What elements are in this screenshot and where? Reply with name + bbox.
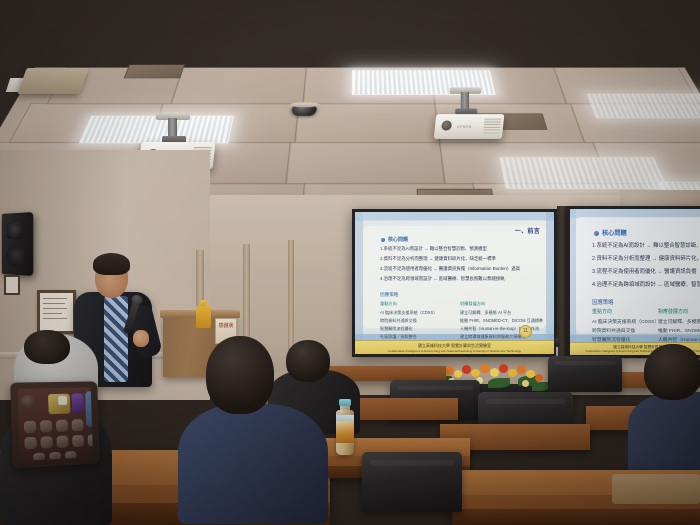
tablet-app-icon[interactable] [56,436,68,448]
slide-bullet: 1.系統不足為AI而設計 → 難以整合智慧診斷、預測模型 [592,241,700,249]
audience-head [206,336,274,414]
audience-head [286,340,330,382]
slide-left: 一、前言 核心問題 1.系統不足為AI而設計 → 難以整合智慧診斷、預測模型 2… [355,212,554,354]
tablet-app-icon[interactable] [24,421,37,434]
slide-bullet: 4.治理不足為跨領域而設計 → 區域醫療、智慧長照難以無縫接軌 [380,276,552,282]
air-vent [124,65,185,79]
left-projection-screen: 一、前言 核心問題 1.系統不足為AI而設計 → 難以整合智慧診斷、預測模型 2… [352,209,557,357]
tablet-device[interactable] [10,381,100,468]
slide-page-number: 11 [519,325,532,338]
slide-bullet: 1.系統不足為AI而設計 → 難以整合智慧診斷、預測模型 [380,246,552,252]
slide-section-heading: 核心問題 [602,228,627,237]
projector-vent [483,119,501,135]
slide-table-cell: 建立可解釋、多模態 AI 平台 [658,318,700,325]
projector-lens [441,121,452,131]
projector-body: EPSON [434,114,505,139]
presenter-hand [133,330,149,347]
slide-table-cell: AI 臨床決策支援系統（CDSS） [380,310,456,316]
fluorescent-light-panel [587,94,700,118]
trophy [196,300,211,334]
slide-title: 一、前言 [515,226,540,235]
slide-table-cell: 建立可解釋、多模態 AI 平台 [460,310,552,316]
framed-notice [37,290,76,334]
slide-bullet: 2.資料不足為分析而整理 → 健康資料碎片化，缺乏統一標準 [380,256,552,262]
slide-table-cell: 推動 FHIR、SNOMED-CT、DICOM [658,327,700,334]
dome-security-camera [291,105,317,116]
bottle-label [336,421,354,443]
slide-bullet: 4.治理不足為跨領域而設計 → 區域醫療、智慧長照難以無縫接軌 [592,280,700,288]
wall-sign [4,275,20,295]
slide-table-header: 對應發展方向 [460,301,485,307]
audience-torso [628,392,700,472]
slide-table-header: 重點方向 [592,308,612,315]
tablet-widget[interactable] [58,396,67,405]
door-frame [288,240,294,352]
right-projection-screen: 核心問題 1.系統不足為AI而設計 → 難以整合智慧診斷、預測模型 2.資料不足… [567,206,700,358]
wall-speaker [2,212,34,276]
seminar-room-photo: EPSON EPSON 一、前言 [0,0,700,525]
conference-chair [548,356,622,392]
tablet-stand [17,68,88,94]
conference-chair [362,452,462,512]
audience-torso [178,404,328,524]
slide-footer-en: Collaborative Intelligence & Smart Livin… [388,349,521,353]
tablet-app-icon[interactable] [24,437,37,450]
tablet-app-icon[interactable] [72,435,84,447]
slide-section-heading: 核心問題 [388,236,408,243]
slide-table-cell: 人機共智（Human-in-the-loop）協作工作流 [460,326,552,332]
tablet-app-icon[interactable] [88,434,94,446]
slide-table-cell: 跨院資料共通與交換 [380,318,456,324]
tablet-widget[interactable] [72,393,84,413]
slide-table-header: 重點方向 [380,301,397,307]
slide-table-cell: AI 臨床決策支援系統（CDSS） [592,318,656,325]
tablet-app-icon[interactable] [41,436,53,449]
screen-divider [557,206,567,358]
slide-table-cell: 推動 FHIR、SNOMED-CT、DICOM 互通標準 [460,318,552,324]
slide-bullet: 3.流程不足為使用者而優化 → 醫護資訊負擔（Information Burde… [380,266,552,272]
tablet-app-icon[interactable] [72,419,84,431]
slide-table-heading: 因應策略 [380,292,398,298]
slide-table-cell: 跨院資料共通與交換 [592,327,656,334]
chair-seat-pad [612,474,700,504]
slide-footer: 國立高雄科技大學 智慧計算與生活實驗室 Collaborative Intell… [355,340,554,354]
slide-bullet: 3.流程不足為使用者而優化 → 醫護資訊負擔（Information Burde… [592,267,700,275]
audience-head [644,344,700,400]
beverage-bottle[interactable] [334,399,356,455]
presenter-hair [93,253,130,275]
section-bullet-icon [594,231,599,236]
audience-head [24,330,70,364]
fluorescent-light-panel [499,157,668,189]
slide-table-heading: 因應策略 [592,298,614,306]
slide-bullet: 2.資料不足為分析而整理 → 健康資料碎片化，缺乏統一標準 [592,254,700,262]
presenter-shirt [104,296,128,382]
slide-table-header: 對應發展方向 [658,308,688,315]
slide-table-cell: 智慧醫院流程優化 [380,326,456,332]
tablet-app-icon[interactable] [40,420,52,432]
section-bullet-icon [381,238,385,242]
tablet-widget[interactable] [21,394,36,409]
tablet-app-icon[interactable] [33,453,45,461]
tablet-app-icon[interactable] [56,420,68,432]
slide-right: 核心問題 1.系統不足為AI而設計 → 難以整合智慧診斷、預測模型 2.資料不足… [570,209,700,355]
bottle-cap [339,399,351,406]
projector-brand-label: EPSON [457,124,472,129]
tablet-screen[interactable] [18,387,94,461]
